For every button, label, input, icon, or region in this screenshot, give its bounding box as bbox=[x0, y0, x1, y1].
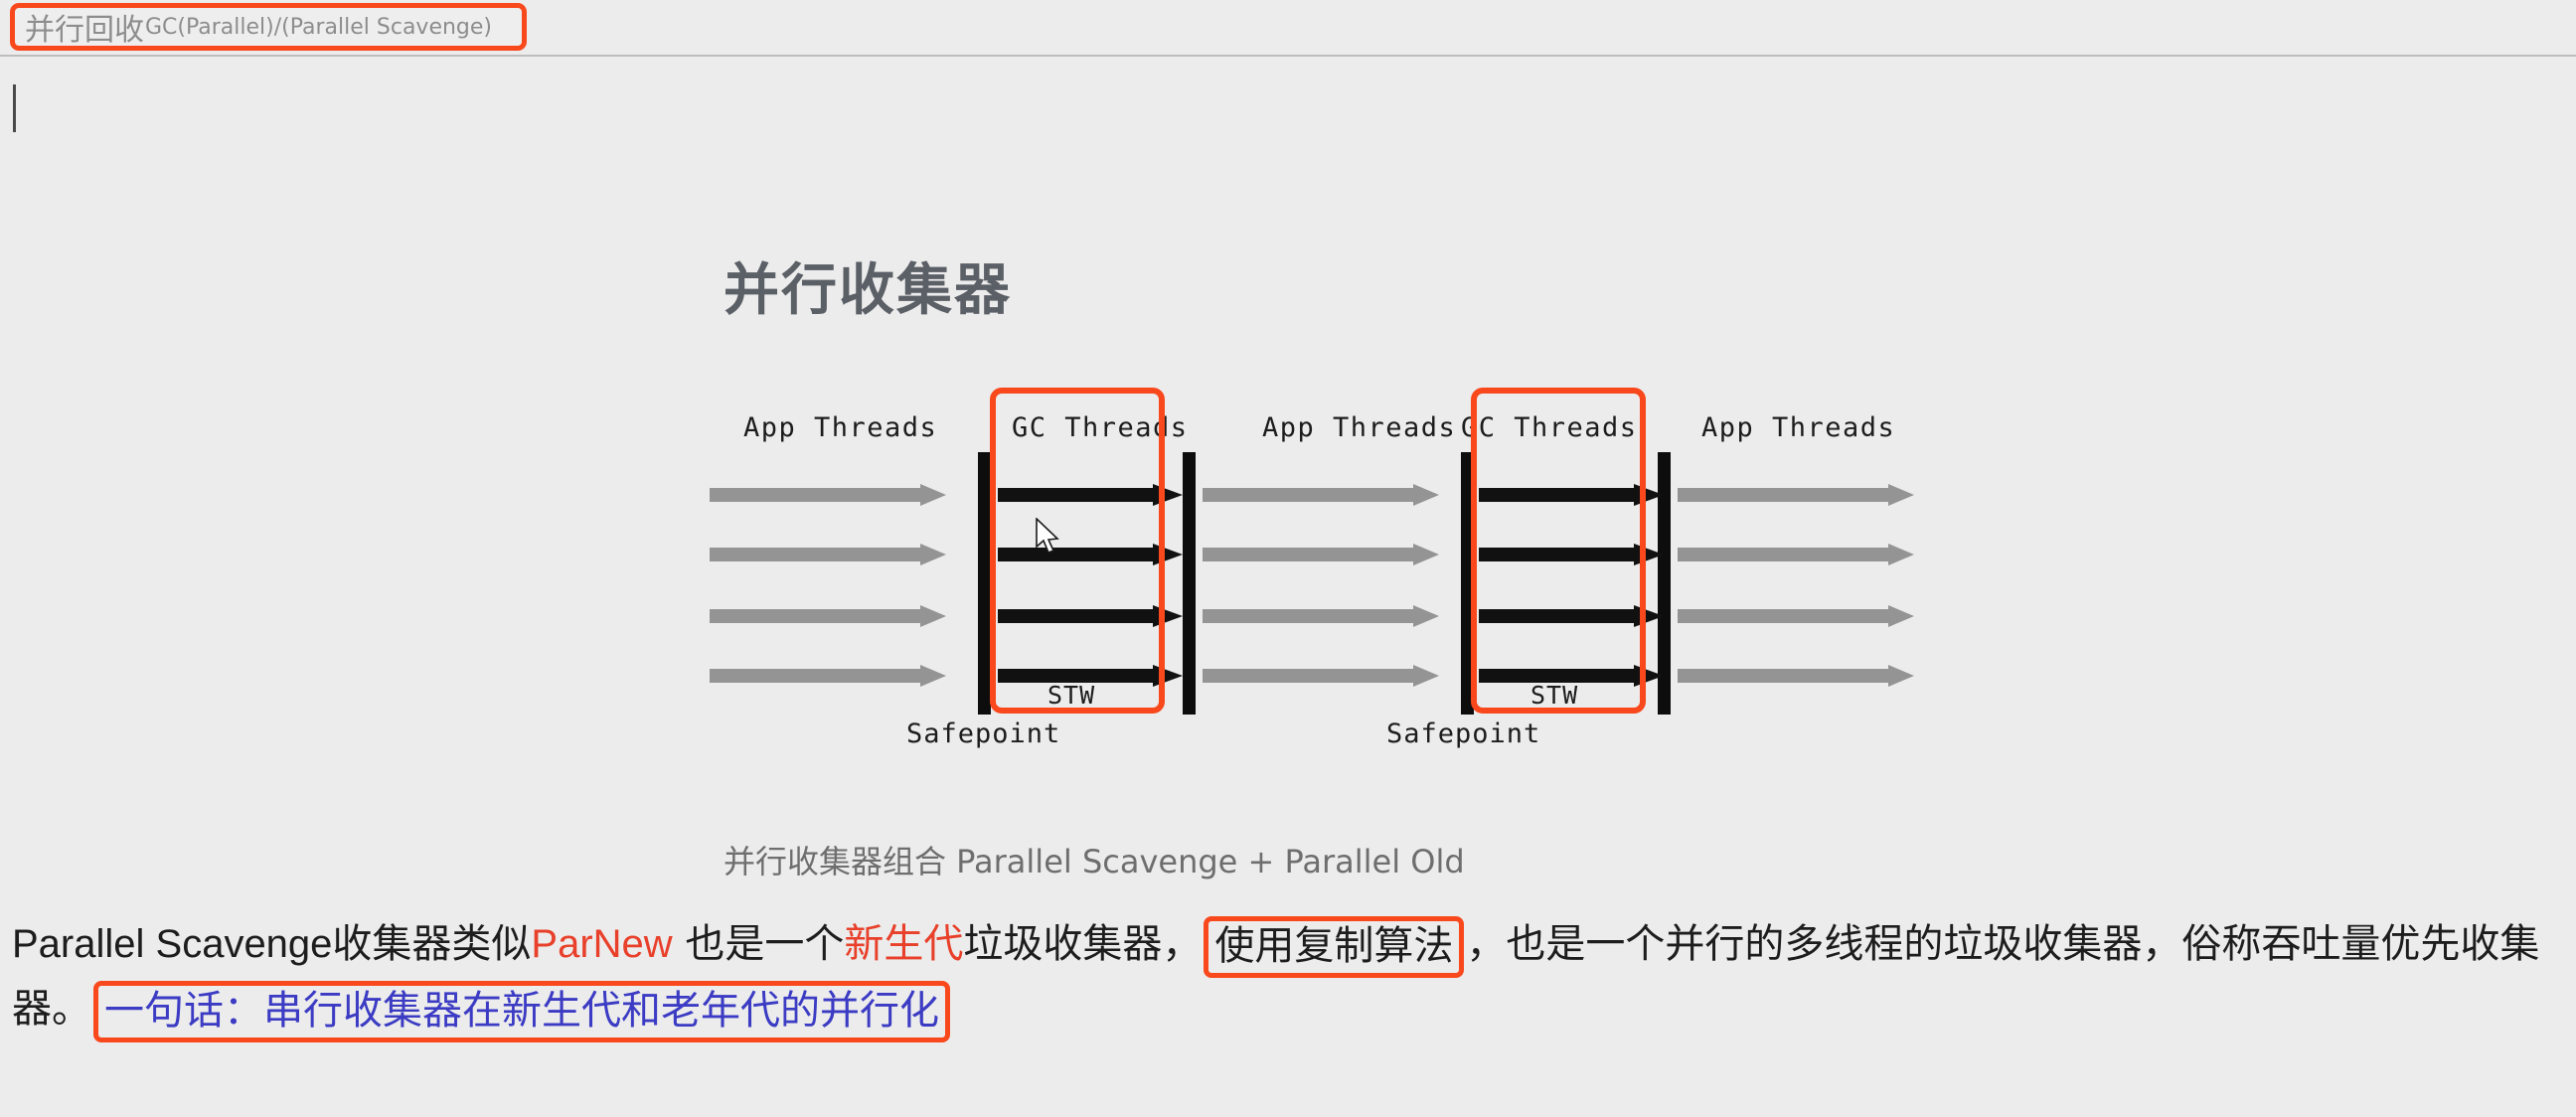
para-segment-parnew: ParNew bbox=[531, 922, 672, 966]
note-title-english: GC(Parallel)/(Parallel Scavenge) bbox=[145, 15, 492, 40]
figure-caption: 并行收集器组合 Parallel Scavenge + Parallel Old bbox=[724, 837, 1465, 882]
app-thread-arrow bbox=[1203, 544, 1439, 565]
app-thread-arrow bbox=[1678, 665, 1914, 687]
gc-thread-arrow bbox=[998, 544, 1183, 565]
stw-label-1: STW bbox=[1047, 681, 1095, 710]
highlight-box-summary: 一句话：串行收集器在新生代和老年代的并行化 bbox=[93, 981, 950, 1042]
page-title: 并行收集器 bbox=[724, 245, 1012, 326]
gc-thread-arrow bbox=[1479, 484, 1664, 506]
gc-thread-arrow bbox=[998, 484, 1183, 506]
app-thread-arrow bbox=[1678, 605, 1914, 627]
highlight-box-copy-algorithm: 使用复制算法 bbox=[1204, 916, 1464, 978]
app-thread-arrow bbox=[710, 484, 946, 506]
app-thread-arrow bbox=[710, 665, 946, 687]
para-segment-6: 垃圾收集器， bbox=[963, 921, 1202, 967]
para-segment-latin: Parallel Scavenge bbox=[12, 922, 332, 966]
gc-thread-arrow bbox=[1479, 544, 1664, 565]
gc-thread-arrow bbox=[998, 605, 1183, 627]
para-segment-2: 收集器类似 bbox=[332, 921, 531, 967]
body-paragraph[interactable]: Parallel Scavenge收集器类似ParNew 也是一个新生代垃圾收集… bbox=[12, 913, 2556, 1042]
para-segment-4: 也是一个 bbox=[673, 921, 845, 967]
column-label-gc-threads-1: GC Threads bbox=[1012, 412, 1189, 443]
safepoint-label-1: Safepoint bbox=[906, 718, 1060, 749]
app-thread-arrow bbox=[1678, 544, 1914, 565]
note-title-chinese: 并行回收 bbox=[25, 5, 144, 49]
mouse-pointer-icon bbox=[1036, 518, 1061, 556]
app-thread-arrow bbox=[710, 544, 946, 565]
parallel-gc-diagram: App Threads GC Threads App Threads GC Th… bbox=[696, 385, 1968, 742]
note-title-input[interactable]: 并行回收 GC(Parallel)/(Parallel Scavenge) bbox=[10, 3, 527, 51]
safepoint-bar-1-right bbox=[1183, 452, 1196, 715]
gc-thread-arrow bbox=[1479, 605, 1664, 627]
note-editor-body[interactable]: 并行收集器 App Threads GC Threads App Threads… bbox=[0, 57, 2576, 1117]
para-segment-young-gen: 新生代 bbox=[844, 921, 963, 967]
app-thread-arrow bbox=[1678, 484, 1914, 506]
app-thread-arrow bbox=[710, 605, 946, 627]
column-label-app-threads-2: App Threads bbox=[1262, 412, 1456, 443]
safepoint-bar-2-left bbox=[1461, 452, 1474, 715]
column-label-gc-threads-2: GC Threads bbox=[1461, 412, 1638, 443]
safepoint-bar-1-left bbox=[978, 452, 991, 715]
app-thread-arrow bbox=[1203, 605, 1439, 627]
stw-label-2: STW bbox=[1530, 681, 1578, 710]
app-thread-arrow bbox=[1203, 484, 1439, 506]
column-label-app-threads-1: App Threads bbox=[743, 412, 937, 443]
text-caret bbox=[13, 84, 16, 132]
note-title-bar: 并行回收 GC(Parallel)/(Parallel Scavenge) bbox=[0, 0, 2576, 57]
safepoint-label-2: Safepoint bbox=[1386, 718, 1540, 749]
column-label-app-threads-3: App Threads bbox=[1701, 412, 1895, 443]
app-thread-arrow bbox=[1203, 665, 1439, 687]
